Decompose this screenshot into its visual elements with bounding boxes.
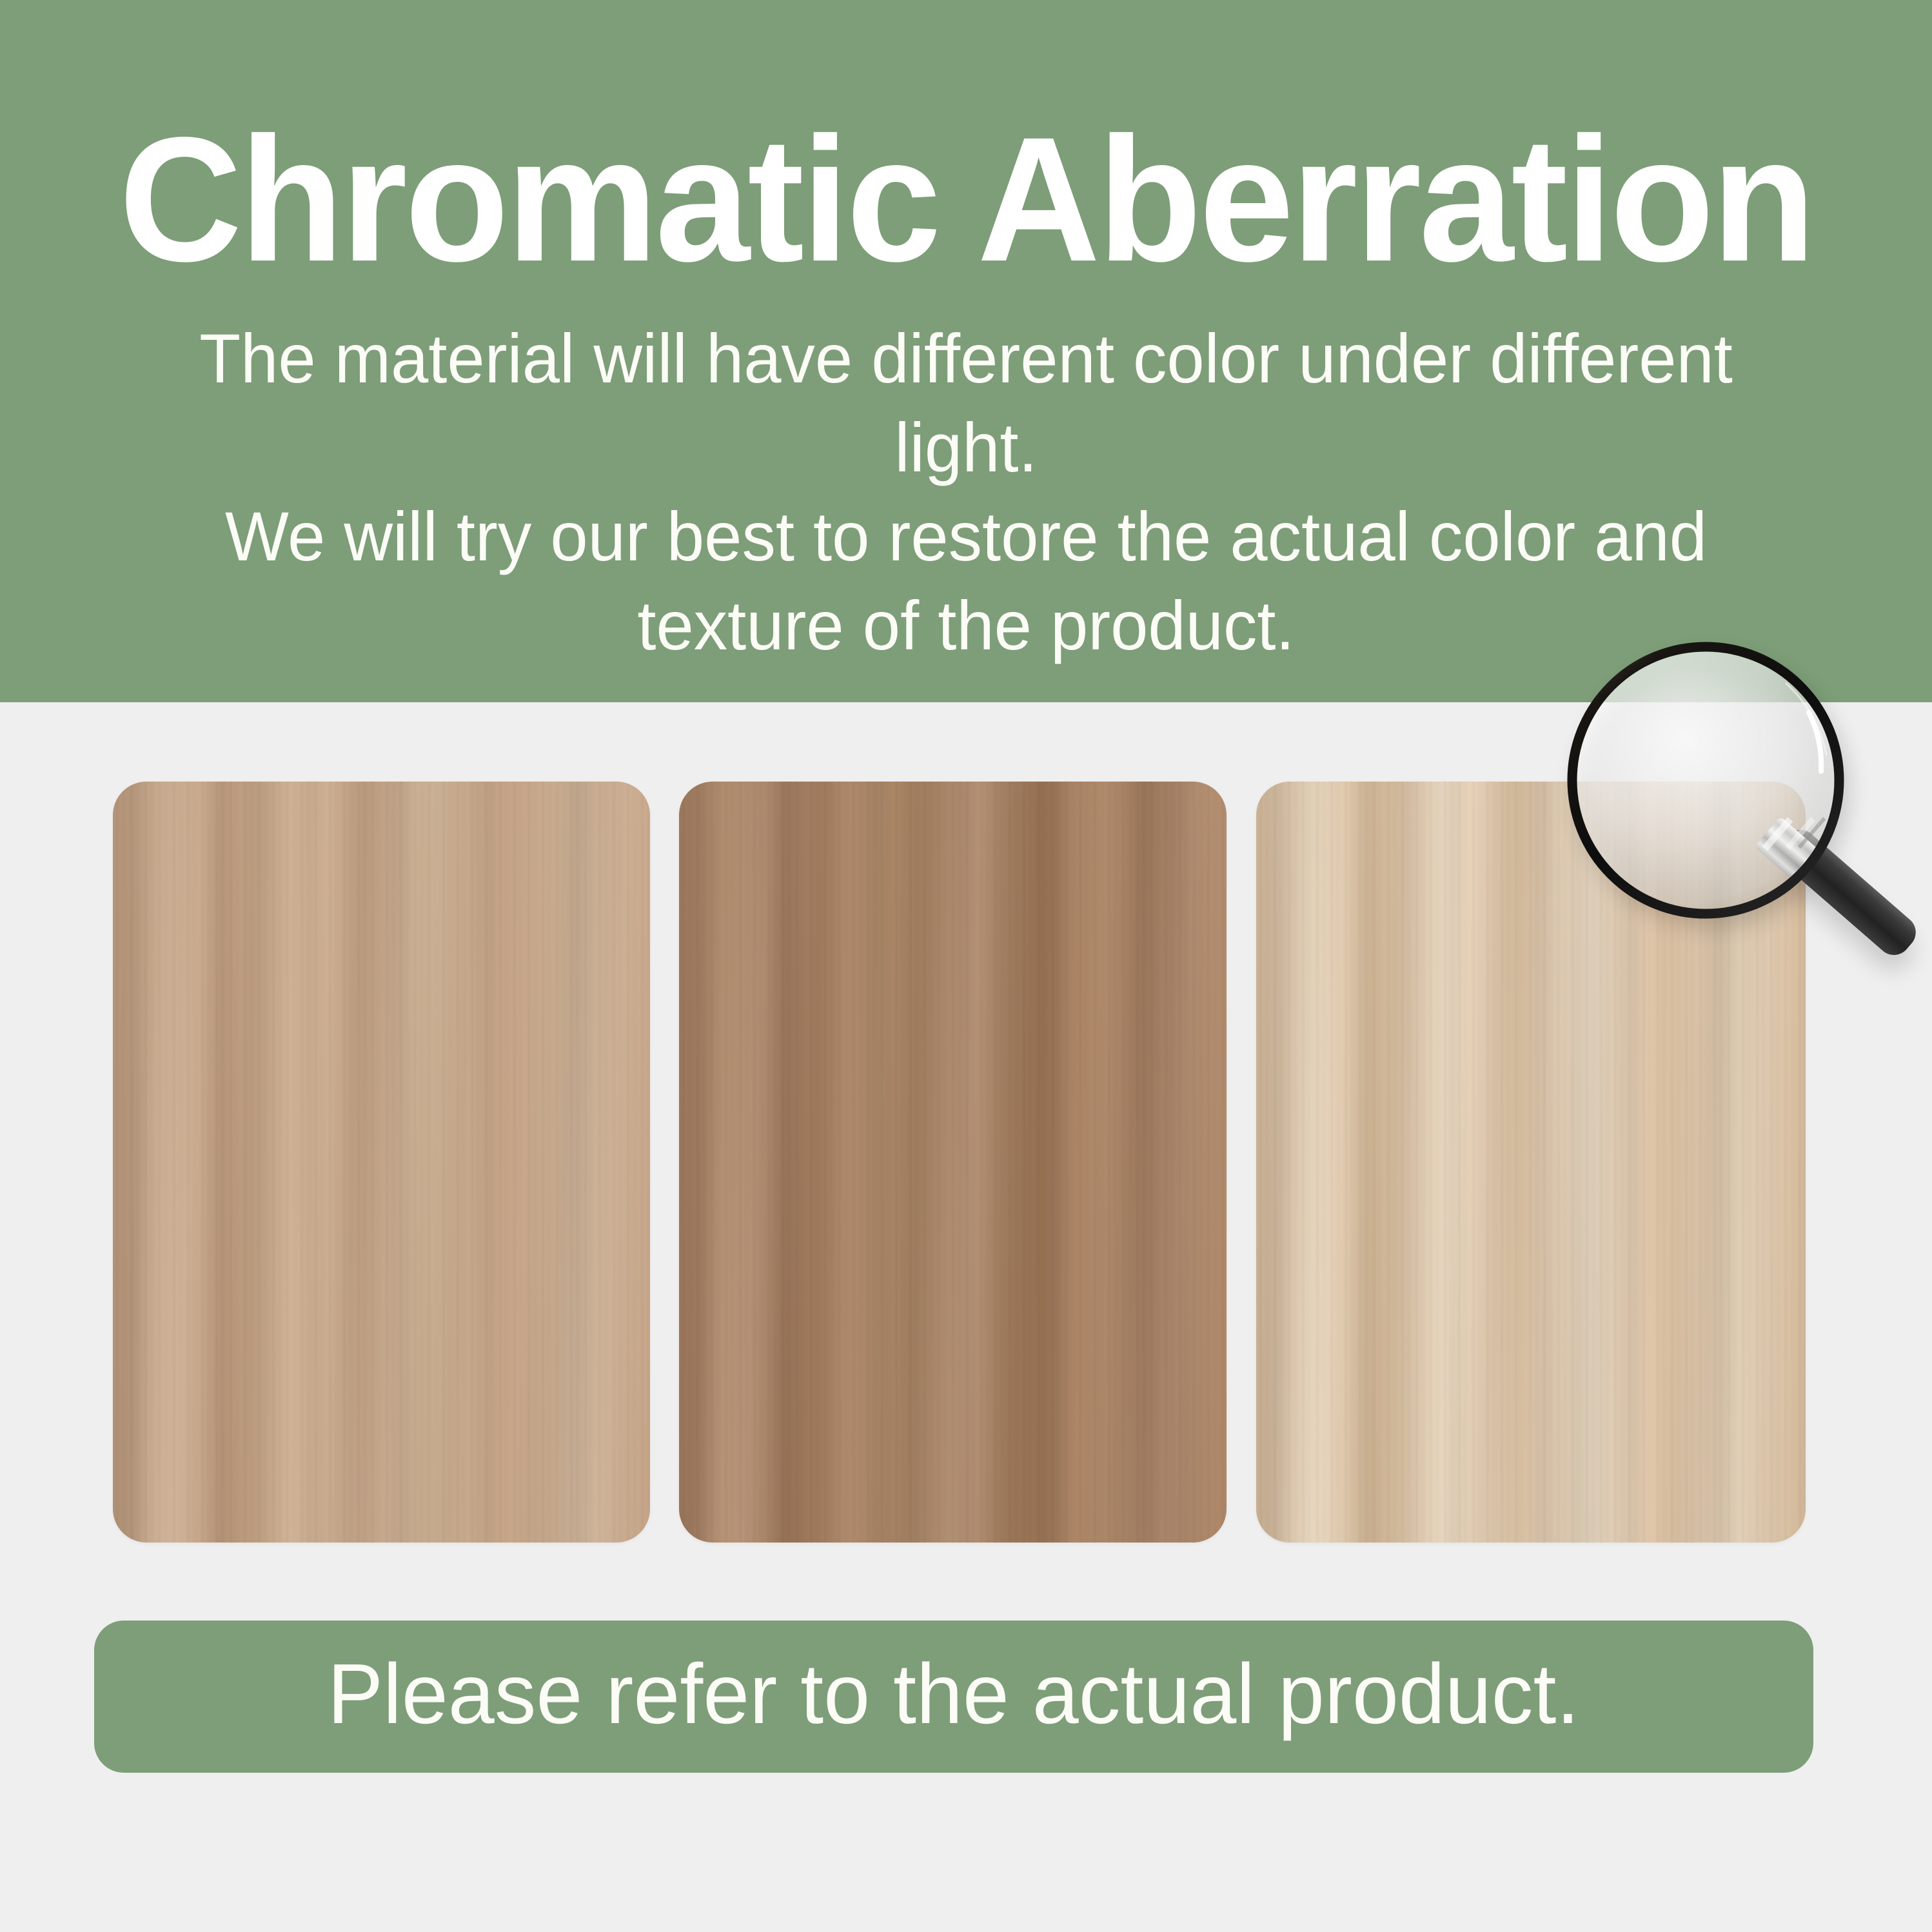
swatch-pale-ash[interactable] <box>1256 782 1806 1543</box>
chromatic-aberration-infographic: Chromatic Aberration The material will h… <box>0 0 1932 1932</box>
swatch-light-warm-oak[interactable] <box>113 782 650 1543</box>
footer-banner-text: Please refer to the actual product. <box>328 1651 1580 1737</box>
header-banner: Chromatic Aberration The material will h… <box>0 0 1932 702</box>
footer-banner: Please refer to the actual product. <box>94 1621 1813 1773</box>
subtitle-line-2: We will try our best to restore the actu… <box>128 492 1804 581</box>
wood-grain-lines-1 <box>113 782 650 1543</box>
wood-grain-lines-3 <box>1256 782 1806 1543</box>
swatch-medium-walnut[interactable] <box>679 782 1227 1543</box>
magnifier-highlight <box>1809 713 1821 771</box>
header-subtitle: The material will have different color u… <box>128 314 1804 671</box>
wood-grain-lines-2 <box>679 782 1227 1543</box>
subtitle-line-3: texture of the product. <box>128 581 1804 670</box>
subtitle-line-1: The material will have different color u… <box>128 314 1804 492</box>
page-title: Chromatic Aberration <box>119 110 1813 291</box>
wood-swatch-row <box>113 782 1806 1543</box>
